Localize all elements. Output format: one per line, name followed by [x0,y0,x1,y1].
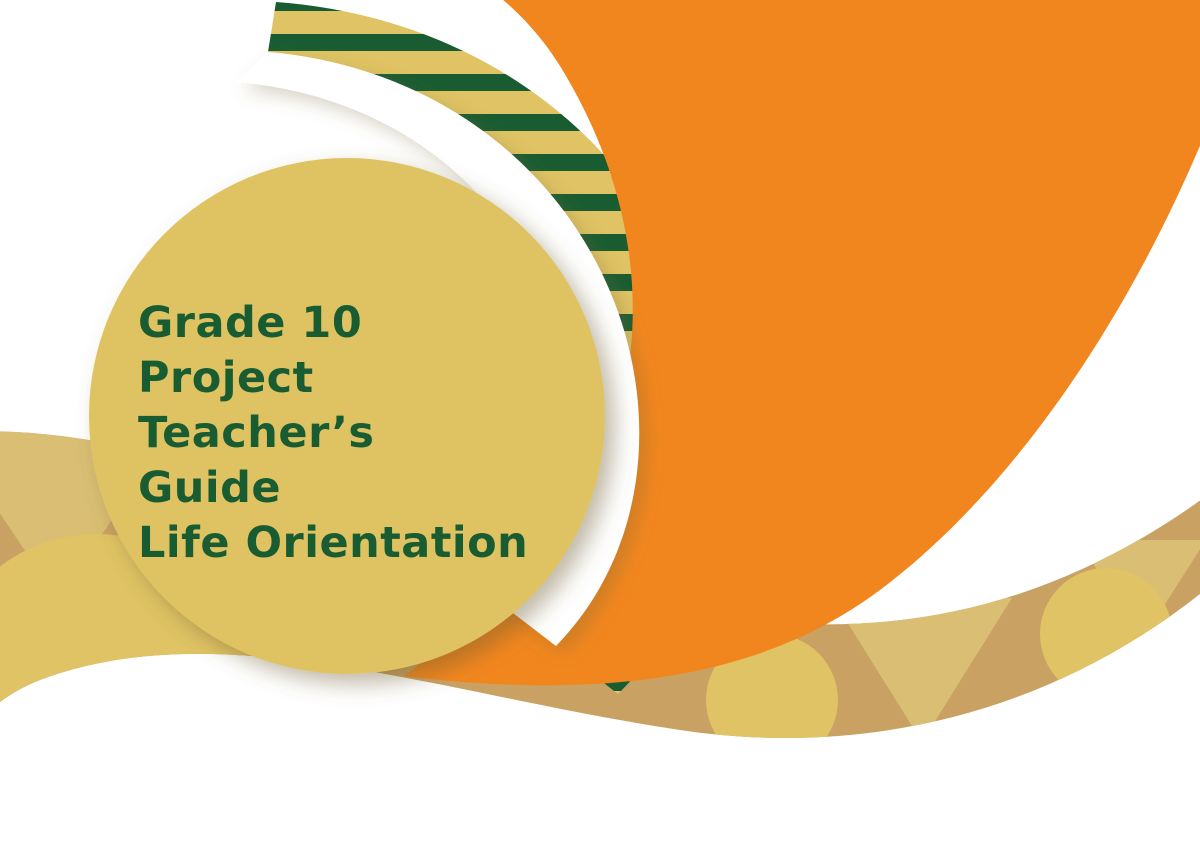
cover-artwork [0,0,1200,849]
main-gold-circle [89,158,605,674]
cover-page: Grade 10 Project Teacher’s Guide Life Or… [0,0,1200,849]
